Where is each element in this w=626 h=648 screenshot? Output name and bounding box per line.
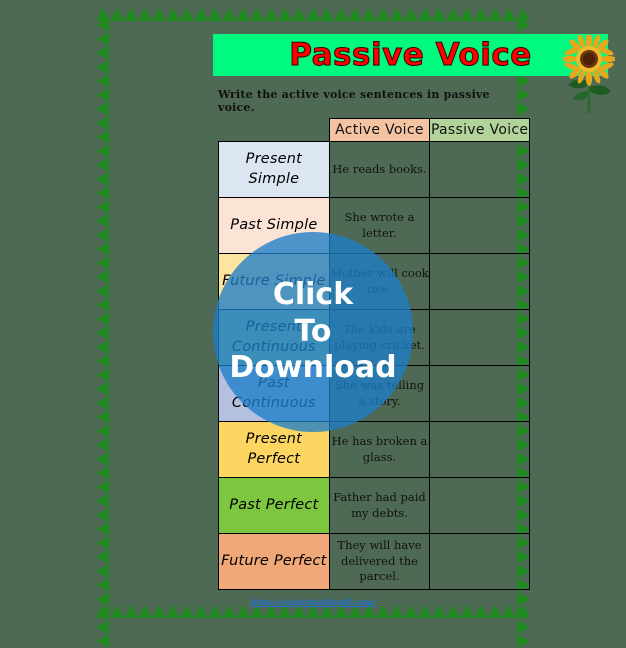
click-to-download-overlay[interactable]: Click To Download	[213, 232, 413, 432]
tree-icon	[502, 8, 516, 21]
border-left	[96, 18, 109, 648]
cta-line-3: Download	[229, 350, 396, 387]
border-top	[96, 8, 530, 21]
tree-icon	[96, 424, 109, 438]
tree-icon	[96, 284, 109, 298]
tree-icon	[96, 452, 109, 466]
tree-icon	[124, 8, 138, 21]
tree-icon	[334, 8, 348, 21]
tree-icon	[96, 606, 109, 620]
tree-icon	[96, 200, 109, 214]
active-voice-sentence: He has broken a glass.	[329, 422, 430, 478]
title-banner: Passive Voice	[213, 34, 608, 76]
tense-label: Present Simple	[219, 142, 330, 198]
instruction-text: Write the active voice sentences in pass…	[218, 88, 530, 114]
tree-icon	[96, 522, 109, 536]
tree-icon	[96, 186, 109, 200]
header-blank	[219, 119, 330, 142]
tree-icon	[208, 8, 222, 21]
tree-icon	[96, 116, 109, 130]
tree-icon	[96, 494, 109, 508]
tree-icon	[517, 18, 530, 32]
sunflower-icon	[563, 35, 615, 113]
table-row: Present PerfectHe has broken a glass.	[219, 422, 530, 478]
tree-icon	[96, 130, 109, 144]
tree-icon	[517, 606, 530, 620]
footer-url-link[interactable]: https://eslprintablepdf.com/	[96, 597, 530, 607]
tree-icon	[432, 8, 446, 21]
tree-icon	[96, 102, 109, 116]
tree-icon	[96, 18, 109, 32]
tree-icon	[96, 466, 109, 480]
passive-voice-answer[interactable]	[430, 422, 530, 478]
passive-voice-answer[interactable]	[430, 534, 530, 590]
passive-voice-answer[interactable]	[430, 366, 530, 422]
tree-icon	[152, 8, 166, 21]
tree-icon	[96, 32, 109, 46]
tree-icon	[96, 312, 109, 326]
table-row: Future PerfectThey will have delivered t…	[219, 534, 530, 590]
tree-icon	[376, 8, 390, 21]
passive-voice-answer[interactable]	[430, 310, 530, 366]
active-voice-sentence: Father had paid my debts.	[329, 478, 430, 534]
tree-icon	[96, 88, 109, 102]
tree-icon	[96, 508, 109, 522]
tree-icon	[517, 634, 530, 648]
tree-icon	[96, 172, 109, 186]
tree-icon	[96, 326, 109, 340]
tree-icon	[96, 368, 109, 382]
tree-icon	[292, 8, 306, 21]
tree-icon	[96, 74, 109, 88]
tree-icon	[474, 8, 488, 21]
tree-icon	[390, 8, 404, 21]
tree-icon	[96, 270, 109, 284]
tree-icon	[222, 8, 236, 21]
tree-icon	[96, 228, 109, 242]
tree-icon	[96, 620, 109, 634]
tense-label: Past Perfect	[219, 478, 330, 534]
tree-icon	[306, 8, 320, 21]
tree-icon	[96, 578, 109, 592]
tree-icon	[96, 396, 109, 410]
tree-icon	[488, 8, 502, 21]
table-row: Present SimpleHe reads books.	[219, 142, 530, 198]
tree-icon	[96, 564, 109, 578]
tree-icon	[96, 536, 109, 550]
tree-icon	[278, 8, 292, 21]
active-voice-sentence: He reads books.	[329, 142, 430, 198]
tree-icon	[517, 74, 530, 88]
tree-icon	[264, 8, 278, 21]
cta-line-2: To	[294, 314, 331, 351]
header-active-voice: Active Voice	[329, 119, 430, 142]
tree-icon	[110, 8, 124, 21]
tree-icon	[96, 634, 109, 648]
tree-icon	[96, 410, 109, 424]
tree-icon	[96, 46, 109, 60]
tree-icon	[96, 298, 109, 312]
tree-icon	[517, 620, 530, 634]
tree-icon	[362, 8, 376, 21]
tree-icon	[96, 354, 109, 368]
tree-icon	[320, 8, 334, 21]
tree-icon	[96, 382, 109, 396]
header-passive-voice: Passive Voice	[430, 119, 530, 142]
passive-voice-answer[interactable]	[430, 478, 530, 534]
tree-icon	[96, 214, 109, 228]
passive-voice-answer[interactable]	[430, 142, 530, 198]
tree-icon	[96, 242, 109, 256]
passive-voice-answer[interactable]	[430, 198, 530, 254]
tree-icon	[166, 8, 180, 21]
tree-icon	[96, 144, 109, 158]
tree-icon	[236, 8, 250, 21]
tree-icon	[180, 8, 194, 21]
page-title: Passive Voice	[213, 34, 608, 76]
tree-icon	[96, 158, 109, 172]
tree-icon	[96, 340, 109, 354]
worksheet-page: Passive Voice	[0, 0, 626, 626]
tree-icon	[250, 8, 264, 21]
tree-icon	[96, 60, 109, 74]
tree-icon	[348, 8, 362, 21]
tree-icon	[460, 8, 474, 21]
tree-icon	[194, 8, 208, 21]
table-row: Past PerfectFather had paid my debts.	[219, 478, 530, 534]
tree-icon	[96, 550, 109, 564]
tree-icon	[446, 8, 460, 21]
passive-voice-answer[interactable]	[430, 254, 530, 310]
active-voice-sentence: They will have delivered the parcel.	[329, 534, 430, 590]
tree-icon	[96, 256, 109, 270]
cta-line-1: Click	[273, 277, 353, 314]
tree-icon	[404, 8, 418, 21]
tree-icon	[96, 480, 109, 494]
tree-icon	[96, 438, 109, 452]
tree-icon	[418, 8, 432, 21]
tree-icon	[138, 8, 152, 21]
tense-label: Future Perfect	[219, 534, 330, 590]
table-header-row: Active Voice Passive Voice	[219, 119, 530, 142]
